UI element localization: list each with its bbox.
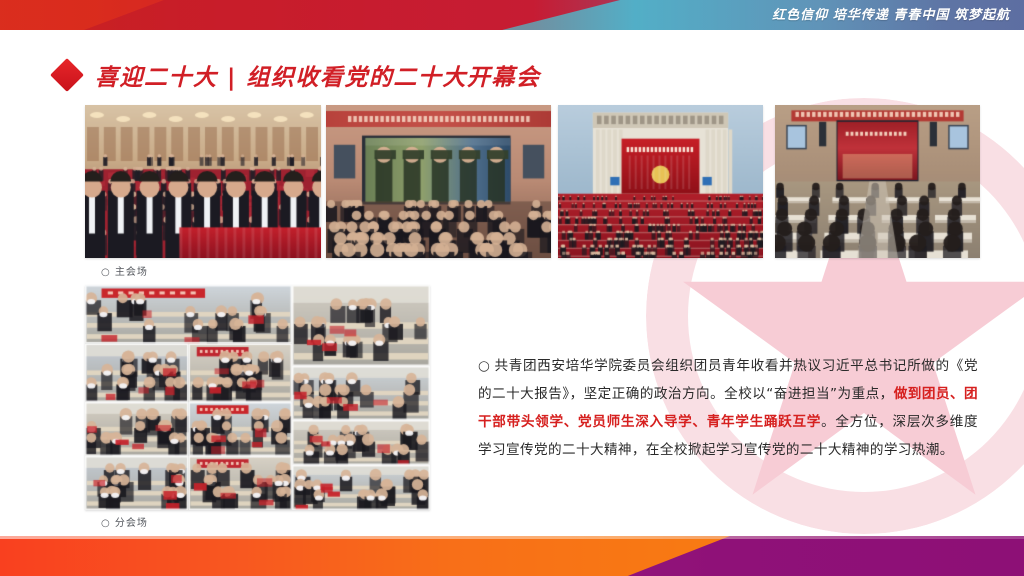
red-diamond-icon: [50, 58, 84, 92]
caption-branch-venue-marker: ○: [101, 518, 111, 529]
page-title-row: 喜迎二十大 | 组织收看党的二十大开幕会: [55, 58, 540, 92]
body-paragraph: ○共青团西安培华学院委员会组织团员青年收看并热议习近平总书记所做的《党的二十大报…: [478, 352, 978, 464]
bottombar-orange-segment: [0, 536, 730, 576]
top-decorative-bar: 红色信仰 培华传递 青春中国 筑梦起航: [0, 0, 1024, 30]
slide-root: 红色信仰 培华传递 青春中国 筑梦起航 喜迎二十大 | 组织收看党的二十大开幕会…: [0, 0, 1024, 576]
bottom-decorative-bar: [0, 536, 1024, 576]
body-marker-icon: ○: [478, 352, 490, 380]
page-title: 喜迎二十大 | 组织收看党的二十大开幕会: [95, 58, 540, 92]
caption-main-venue-label: 主会场: [115, 267, 148, 278]
body-paragraph-text: 共青团西安培华学院委员会组织团员青年收看并热议习近平总书记所做的《党的二十大报告…: [478, 358, 978, 458]
caption-branch-venue: ○ 分会场: [101, 514, 148, 529]
photo-great-hall-of-the-people[interactable]: [558, 105, 763, 258]
photo-main-hall-standing-audience[interactable]: [85, 105, 321, 258]
caption-branch-venue-label: 分会场: [115, 518, 148, 529]
bottombar-top-highlight: [0, 536, 1024, 539]
photo-school-banner-led-screen[interactable]: [326, 105, 551, 258]
caption-main-venue-marker: ○: [101, 267, 111, 278]
caption-main-venue: ○ 主会场: [101, 263, 148, 278]
photo-branch-venue-collage[interactable]: [85, 285, 430, 510]
photo-classroom-viewing-led-wall[interactable]: [775, 105, 980, 258]
header-slogan: 红色信仰 培华传递 青春中国 筑梦起航: [772, 0, 1010, 30]
